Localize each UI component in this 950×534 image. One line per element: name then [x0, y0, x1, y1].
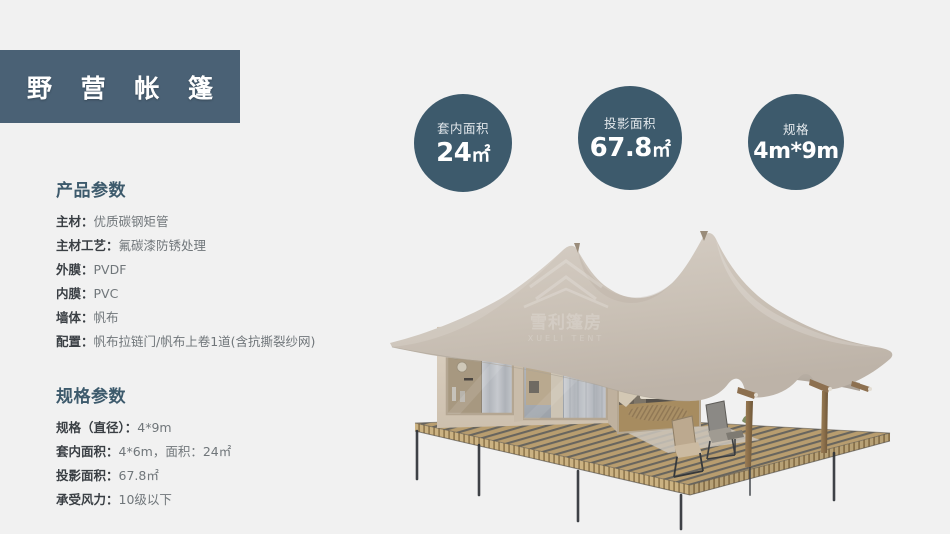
badge-dimensions: 规格 4m*9m — [748, 94, 844, 190]
spec-row: 主材：优质碳钢矩管 — [56, 210, 315, 234]
product-params-heading: 产品参数 — [56, 176, 315, 201]
svg-text:雪利篷房: 雪利篷房 — [530, 312, 602, 333]
spec-key: 墙体： — [56, 310, 94, 325]
spec-value: 4*9m — [137, 420, 171, 435]
spec-key: 规格（直径）： — [56, 420, 137, 435]
badge-label: 投影面积 — [604, 113, 656, 132]
badge-number: 24 — [436, 138, 471, 168]
page-title-block: 野 营 帐 篷 — [0, 50, 240, 123]
spec-value: PVC — [94, 286, 119, 301]
badge-number: 4m*9m — [753, 139, 838, 164]
spec-row: 外膜：PVDF — [56, 258, 315, 282]
product-params-section: 产品参数 主材：优质碳钢矩管 主材工艺：氟碳漆防锈处理 外膜：PVDF 内膜：P… — [56, 176, 315, 354]
spec-key: 配置： — [56, 334, 94, 349]
tent-illustration: 雪利篷房 XUELI TENT — [390, 195, 950, 534]
badge-label: 套内面积 — [437, 118, 489, 137]
spec-value: 帆布 — [94, 310, 119, 325]
spec-row: 投影面积：67.8㎡ — [56, 464, 231, 488]
badge-projected-area: 投影面积 67.8㎡ — [578, 86, 682, 190]
size-params-heading: 规格参数 — [56, 382, 231, 407]
spec-key: 投影面积： — [56, 468, 119, 483]
spec-row: 内膜：PVC — [56, 282, 315, 306]
spec-value: 氟碳漆防锈处理 — [119, 238, 207, 253]
spec-value: PVDF — [94, 262, 127, 277]
svg-text:XUELI TENT: XUELI TENT — [528, 334, 605, 343]
spec-value: 67.8㎡ — [119, 468, 159, 483]
spec-value: 优质碳钢矩管 — [94, 214, 169, 229]
spec-key: 内膜： — [56, 286, 94, 301]
spec-key: 套内面积： — [56, 444, 119, 459]
badge-value: 24㎡ — [436, 139, 490, 168]
spec-row: 承受风力：10级以下 — [56, 488, 231, 512]
page-title: 野 营 帐 篷 — [17, 69, 223, 105]
badge-unit: ㎡ — [652, 139, 671, 161]
spec-key: 主材工艺： — [56, 238, 119, 253]
badge-unit: ㎡ — [471, 144, 490, 166]
spec-row: 套内面积：4*6m，面积：24㎡ — [56, 440, 231, 464]
spec-row: 墙体：帆布 — [56, 306, 315, 330]
spec-value: 帆布拉链门/帆布上卷1道(含抗撕裂纱网) — [94, 334, 316, 349]
spec-row: 主材工艺：氟碳漆防锈处理 — [56, 234, 315, 258]
badge-value: 67.8㎡ — [590, 134, 671, 163]
badge-interior-area: 套内面积 24㎡ — [414, 94, 512, 192]
badge-value: 4m*9m — [753, 140, 838, 164]
spec-value: 10级以下 — [119, 492, 172, 507]
spec-key: 承受风力： — [56, 492, 119, 507]
size-params-section: 规格参数 规格（直径）：4*9m 套内面积：4*6m，面积：24㎡ 投影面积：6… — [56, 382, 231, 512]
badge-number: 67.8 — [590, 133, 652, 163]
badge-label: 规格 — [783, 119, 809, 138]
page-root: 野 营 帐 篷 产品参数 主材：优质碳钢矩管 主材工艺：氟碳漆防锈处理 外膜：P… — [0, 0, 950, 534]
spec-row: 规格（直径）：4*9m — [56, 416, 231, 440]
spec-value: 4*6m，面积：24㎡ — [119, 444, 232, 459]
spec-key: 外膜： — [56, 262, 94, 277]
spec-row: 配置：帆布拉链门/帆布上卷1道(含抗撕裂纱网) — [56, 330, 315, 354]
spec-key: 主材： — [56, 214, 94, 229]
